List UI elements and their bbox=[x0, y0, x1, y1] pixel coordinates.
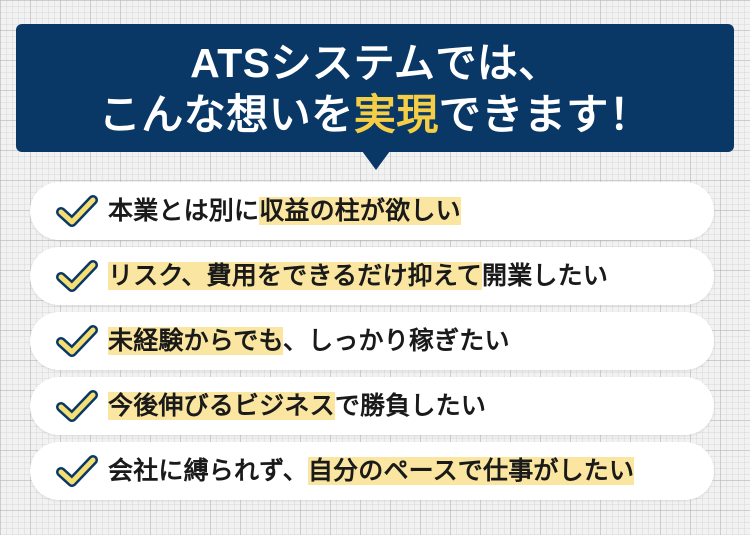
list-item-text: 未経験からでも、しっかり稼ぎたい bbox=[108, 324, 510, 358]
list-item-highlight: 自分のペースで仕事がしたい bbox=[308, 457, 634, 485]
list-item[interactable]: 今後伸びるビジネスで勝負したい bbox=[30, 377, 714, 435]
list-item[interactable]: 未経験からでも、しっかり稼ぎたい bbox=[30, 312, 714, 370]
list-item-text-suffix: で勝負したい bbox=[335, 392, 486, 420]
list-item-highlight: 収益の柱が欲しい bbox=[259, 197, 461, 225]
check-mark-icon bbox=[56, 389, 98, 423]
list-item[interactable]: 本業とは別に収益の柱が欲しい bbox=[30, 182, 714, 240]
check-mark-icon bbox=[56, 194, 98, 228]
checklist: 本業とは別に収益の柱が欲しい リスク、費用をできるだけ抑えて開業したい 未経験か… bbox=[30, 182, 714, 507]
poster-root: ATSシステムでは、 こんな想いを実現できます！ 本業とは別に収益の柱が欲しい … bbox=[0, 0, 750, 535]
headline-accent-text: 実現 bbox=[354, 91, 439, 138]
list-item-text-suffix: 開業したい bbox=[482, 262, 608, 290]
headline-line-2: こんな想いを実現できます！ bbox=[99, 89, 652, 140]
list-item-text: リスク、費用をできるだけ抑えて開業したい bbox=[108, 259, 608, 293]
list-item-text: 会社に縛られず、自分のペースで仕事がしたい bbox=[108, 454, 634, 488]
check-mark-icon bbox=[56, 259, 98, 293]
speech-bubble-tail bbox=[362, 151, 390, 170]
list-item-text: 本業とは別に収益の柱が欲しい bbox=[108, 194, 461, 228]
list-item-highlight: リスク、費用をできるだけ抑えて bbox=[108, 262, 482, 290]
list-item-text-suffix: 、しっかり稼ぎたい bbox=[283, 327, 510, 355]
headline-line-1: ATSシステムでは、 bbox=[190, 38, 560, 89]
list-item-highlight: 未経験からでも bbox=[108, 327, 283, 355]
headline-line-2-suffix: できます！ bbox=[439, 91, 652, 138]
check-mark-icon bbox=[56, 454, 98, 488]
list-item-text: 今後伸びるビジネスで勝負したい bbox=[108, 389, 486, 423]
list-item-text-prefix: 会社に縛られず、 bbox=[108, 457, 308, 485]
check-mark-icon bbox=[56, 324, 98, 358]
headline-banner: ATSシステムでは、 こんな想いを実現できます！ bbox=[16, 24, 734, 152]
headline-line-2-prefix: こんな想いを bbox=[99, 91, 354, 138]
list-item-highlight: 今後伸びるビジネス bbox=[108, 392, 335, 420]
list-item[interactable]: 会社に縛られず、自分のペースで仕事がしたい bbox=[30, 442, 714, 500]
list-item-text-prefix: 本業とは別に bbox=[108, 197, 259, 225]
list-item[interactable]: リスク、費用をできるだけ抑えて開業したい bbox=[30, 247, 714, 305]
